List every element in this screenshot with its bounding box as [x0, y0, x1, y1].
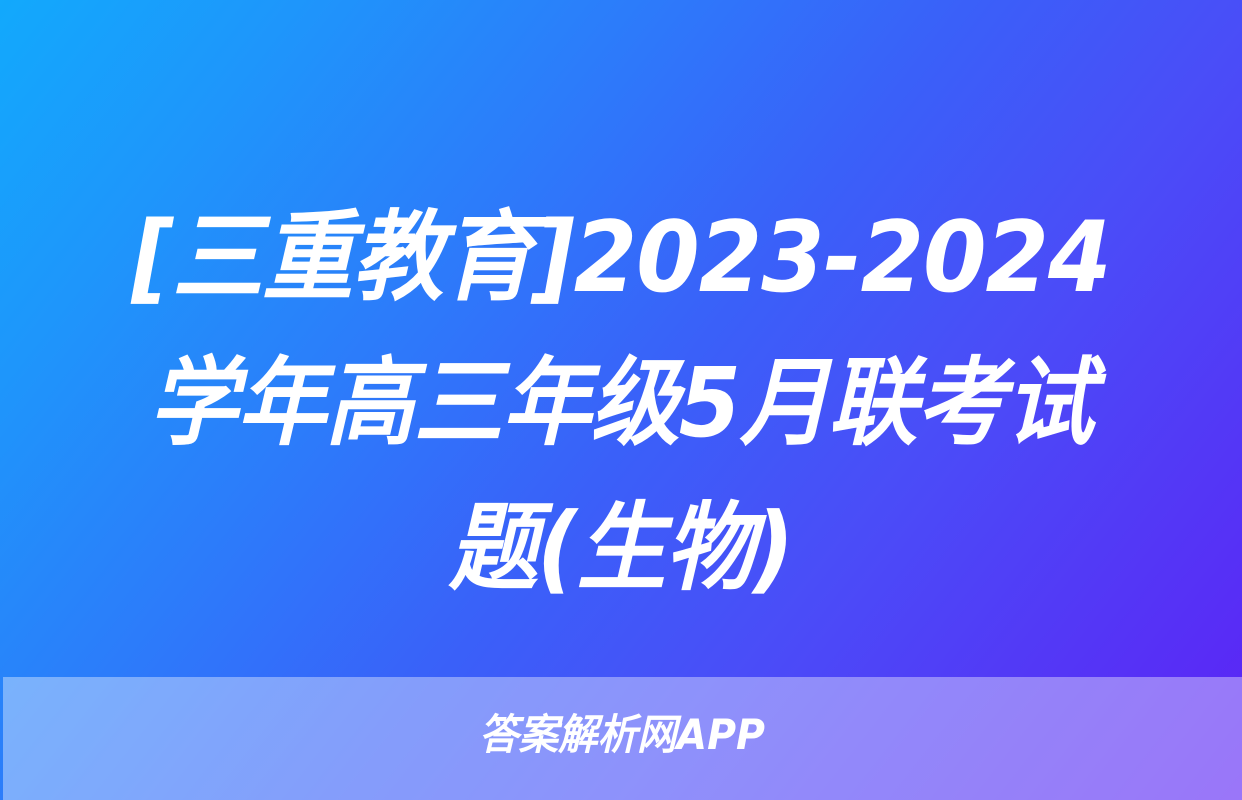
title-line-2: 学年高三年级5月联考试	[92, 331, 1150, 476]
title-line-1: [三重教育]2023-2024	[92, 186, 1150, 331]
cover-card: [三重教育]2023-2024 学年高三年级5月联考试 题(生物) 答案解析网A…	[0, 0, 1242, 800]
footer-band: 答案解析网APP	[3, 677, 1242, 800]
page-title: [三重教育]2023-2024 学年高三年级5月联考试 题(生物)	[0, 186, 1242, 621]
title-line-3: 题(生物)	[92, 476, 1150, 621]
watermark-text: 答案解析网APP	[480, 711, 766, 759]
